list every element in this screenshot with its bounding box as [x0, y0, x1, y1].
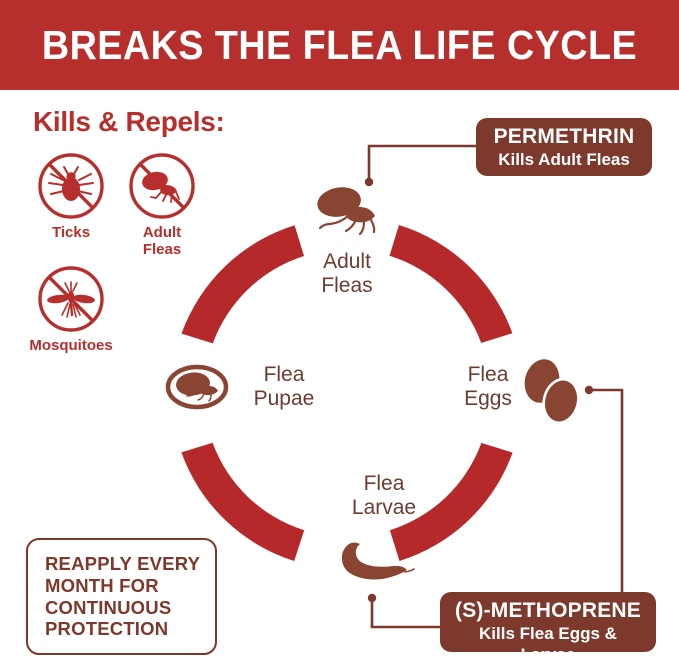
stage-label-adult-fleas-line1: Adult [323, 250, 371, 273]
permethrin-callout-subtitle: Kills Adult Fleas [490, 150, 638, 170]
stage-label-flea-pupae-line1: Flea [264, 363, 305, 386]
methoprene-callout-title: (S)-METHOPRENE [454, 599, 642, 623]
permethrin-callout: PERMETHRIN Kills Adult Fleas [476, 118, 652, 176]
stage-label-flea-larvae-line1: Flea [364, 472, 405, 495]
stage-label-flea-eggs-line2: Eggs [464, 387, 512, 410]
permethrin-leader-line [365, 146, 478, 186]
flea-eggs-icon [520, 356, 583, 427]
methoprene-callout-subtitle: Kills Flea Eggs & Larvae [454, 624, 642, 663]
reapply-note-line2: MONTH FOR [45, 575, 159, 596]
reapply-note-text: REAPPLY EVERY MONTH FOR CONTINUOUS PROTE… [28, 553, 200, 640]
methoprene-eggs-leader-line [585, 386, 622, 600]
cycle-arc-top-left [182, 225, 305, 343]
stage-label-flea-pupae: Flea Pupae [233, 363, 335, 410]
stage-label-flea-eggs-line1: Flea [468, 363, 509, 386]
stage-label-flea-eggs: Flea Eggs [450, 363, 526, 410]
methoprene-larvae-leader-line [368, 594, 442, 627]
reapply-note-line1: REAPPLY EVERY [45, 553, 200, 574]
stage-label-flea-larvae-line2: Larvae [352, 496, 416, 519]
reapply-note-line4: PROTECTION [45, 618, 168, 639]
reapply-note-line3: CONTINUOUS [45, 597, 171, 618]
stage-label-flea-larvae: Flea Larvae [333, 472, 435, 519]
stage-label-flea-pupae-line2: Pupae [254, 387, 315, 410]
reapply-note-box: REAPPLY EVERY MONTH FOR CONTINUOUS PROTE… [26, 538, 217, 655]
stage-label-adult-fleas-line2: Fleas [321, 274, 372, 297]
flea-life-cycle-infographic: BREAKS THE FLEA LIFE CYCLE Kills & Repel… [0, 0, 679, 663]
cycle-arc-top-right [390, 225, 513, 343]
stage-label-adult-fleas: Adult Fleas [293, 250, 401, 297]
adult-flea-icon [315, 184, 375, 234]
flea-pupa-icon [168, 367, 226, 407]
methoprene-callout: (S)-METHOPRENE Kills Flea Eggs & Larvae [440, 592, 656, 652]
permethrin-callout-title: PERMETHRIN [490, 125, 638, 149]
